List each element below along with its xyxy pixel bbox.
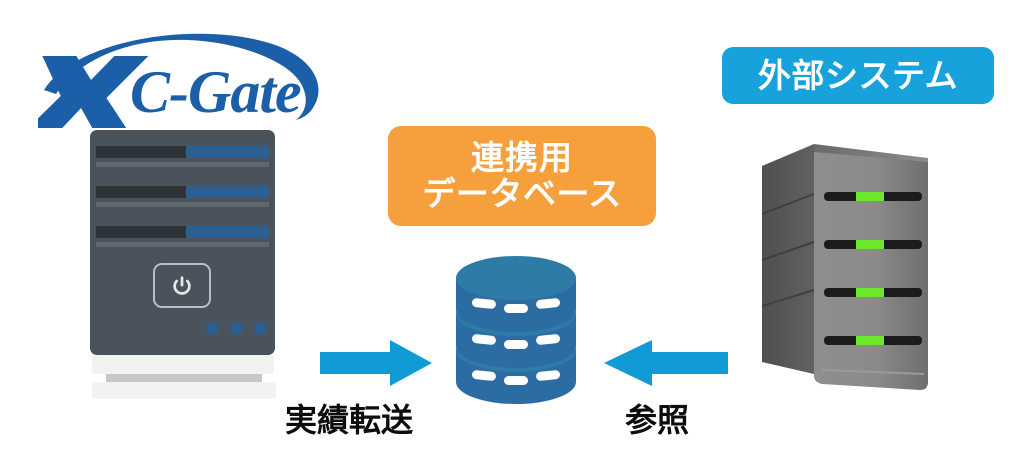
rack-slot bbox=[824, 288, 922, 297]
pc-tower-body bbox=[90, 130, 275, 355]
pc-status-leds bbox=[206, 322, 267, 335]
rack-slot-led bbox=[856, 240, 884, 249]
pc-tower-base-lower bbox=[92, 382, 276, 399]
arrow-left-icon bbox=[604, 340, 728, 386]
pc-drive-bay-line bbox=[96, 202, 269, 207]
server-rack-icon bbox=[752, 136, 944, 404]
logo-wordmark: C-Gate bbox=[130, 59, 301, 125]
pc-status-led bbox=[230, 322, 243, 335]
rack-slot bbox=[824, 192, 922, 201]
pc-drive-bay-dark bbox=[96, 226, 186, 238]
external-system-label-text: 外部システム bbox=[758, 59, 958, 92]
pc-drive-bay-line bbox=[96, 162, 269, 167]
pc-drive-bay bbox=[96, 186, 269, 198]
pc-drive-bay bbox=[96, 146, 269, 158]
caption-transfer: 実績転送 bbox=[285, 404, 413, 436]
rack-front-face bbox=[814, 152, 928, 390]
pc-status-led bbox=[254, 322, 267, 335]
pc-drive-bay-dark bbox=[96, 186, 186, 198]
xc-gate-logo-svg: C-Gate bbox=[38, 28, 358, 128]
pc-drive-bay-accent bbox=[186, 226, 269, 238]
database-cylinder-svg bbox=[452, 250, 580, 405]
arrow-right-icon bbox=[320, 340, 432, 386]
pc-drive-bay bbox=[96, 226, 269, 238]
rack-slot-led bbox=[856, 336, 884, 345]
server-rack-svg bbox=[752, 136, 944, 404]
xc-gate-logo: C-Gate bbox=[38, 28, 358, 128]
rack-side-face bbox=[762, 144, 814, 374]
rack-slot-led bbox=[856, 192, 884, 201]
caption-reference: 参照 bbox=[625, 404, 689, 436]
arrow-reference-to-database bbox=[604, 340, 728, 386]
pc-status-led bbox=[206, 322, 219, 335]
external-system-label: 外部システム bbox=[722, 47, 994, 104]
power-icon bbox=[171, 275, 193, 297]
pc-drive-bay-line bbox=[96, 242, 269, 247]
pc-drive-bay-accent bbox=[186, 186, 269, 198]
diagram-canvas: C-Gate 外部システム 連携用 データベース bbox=[0, 0, 1024, 469]
integration-database-label-line2: データベース bbox=[422, 177, 621, 211]
pc-tower-base-mid bbox=[106, 374, 262, 382]
pc-drive-bay-dark bbox=[96, 146, 186, 158]
rack-slot bbox=[824, 336, 922, 345]
integration-database-label: 連携用 データベース bbox=[388, 126, 656, 226]
arrow-transfer-to-database bbox=[320, 340, 432, 386]
pc-power-button[interactable] bbox=[153, 263, 211, 308]
integration-database-label-line1: 連携用 bbox=[471, 141, 573, 175]
database-cylinder-icon bbox=[452, 250, 580, 405]
rack-slot bbox=[824, 240, 922, 249]
db-disc-top-top bbox=[456, 256, 576, 300]
pc-drive-bay-accent bbox=[186, 146, 269, 158]
pc-tower-base-upper bbox=[92, 355, 274, 374]
pc-tower-icon bbox=[72, 130, 302, 400]
rack-slot-led bbox=[856, 288, 884, 297]
